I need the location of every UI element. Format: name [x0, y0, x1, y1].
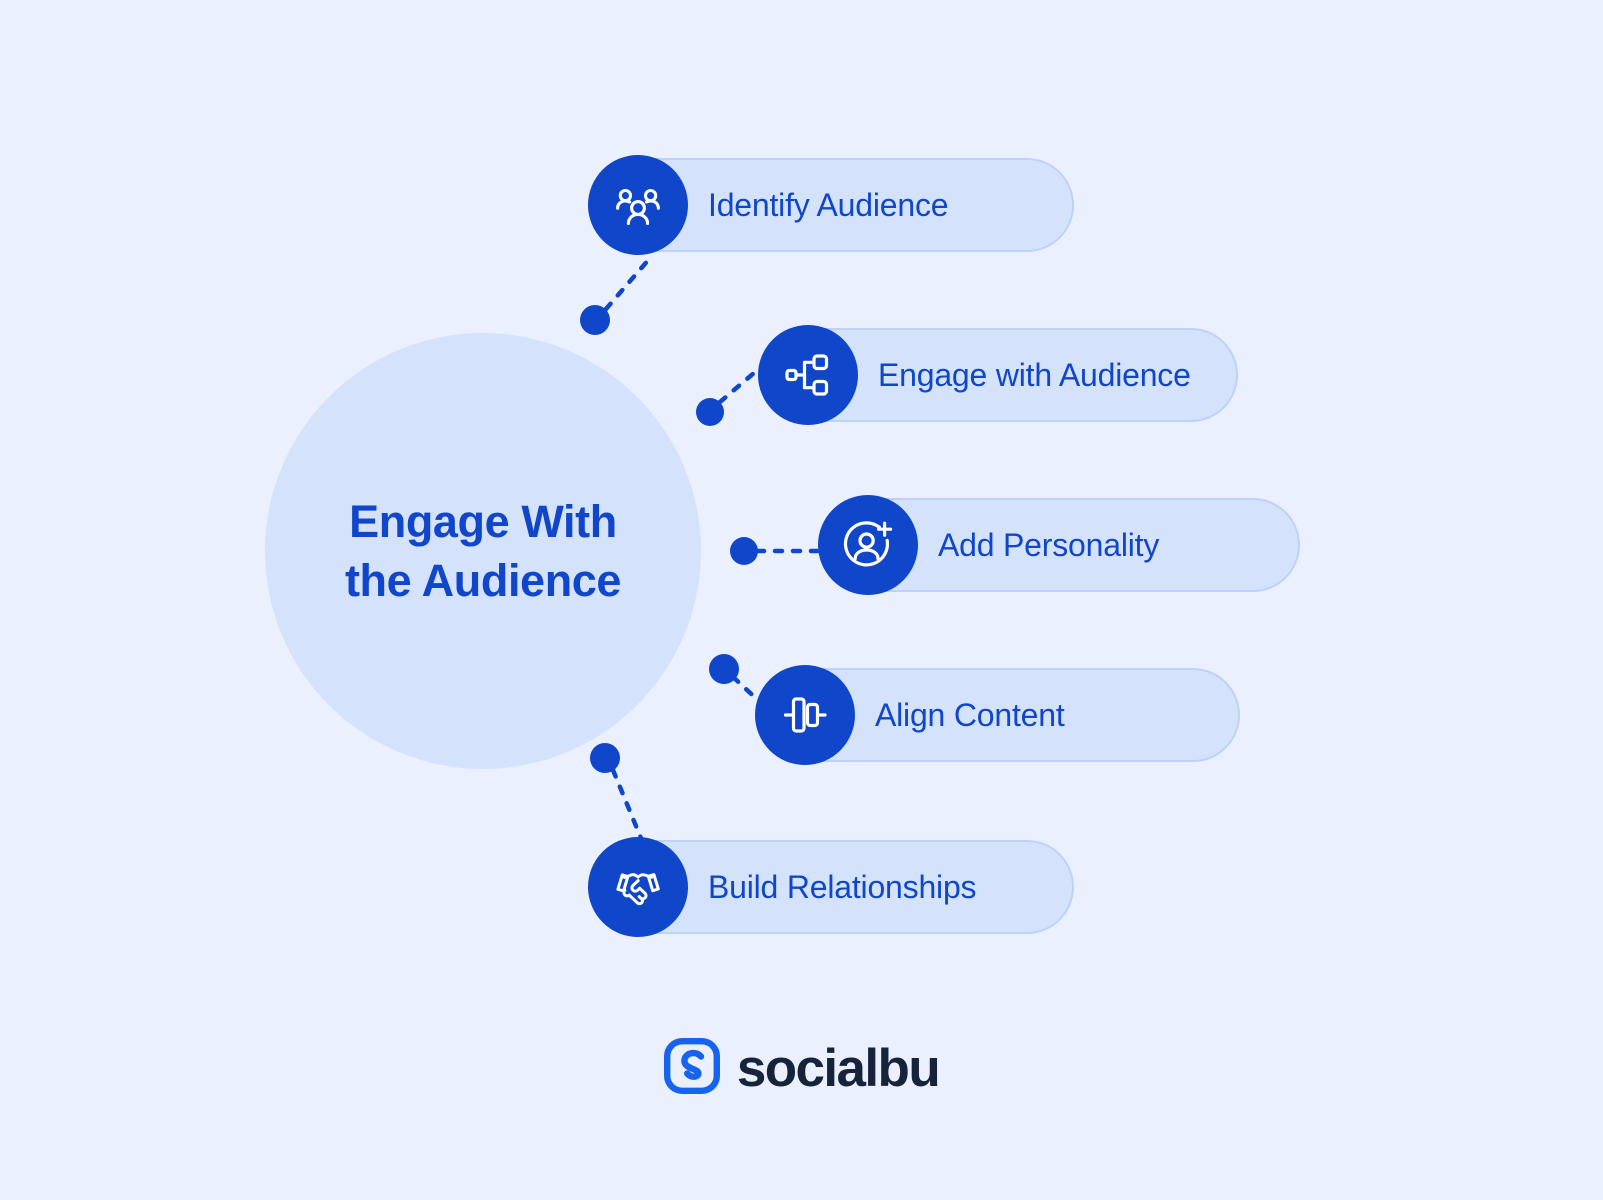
step-item-identify-audience[interactable]: Identify Audience: [588, 158, 1074, 252]
step-item-align-content[interactable]: Align Content: [755, 668, 1240, 762]
hierarchy-sitemap-icon: [758, 325, 858, 425]
step-label: Build Relationships: [708, 869, 976, 906]
center-hub: Engage With the Audience: [265, 333, 701, 769]
step-label: Identify Audience: [708, 187, 948, 224]
connector-dot-4: [590, 743, 620, 773]
center-title: Engage With the Audience: [345, 492, 621, 611]
connector-dot-3: [709, 654, 739, 684]
user-plus-circle-icon: [818, 495, 918, 595]
step-label: Engage with Audience: [878, 357, 1191, 394]
connector-line-0: [606, 258, 650, 309]
socialbu-s-mark-icon: [664, 1038, 720, 1099]
step-item-add-personality[interactable]: Add Personality: [818, 498, 1300, 592]
handshake-icon: [588, 837, 688, 937]
connector-dot-0: [580, 305, 610, 335]
align-center-vertical-icon: [755, 665, 855, 765]
step-item-build-relationships[interactable]: Build Relationships: [588, 840, 1074, 934]
users-group-icon: [588, 155, 688, 255]
brand-wordmark: socialbu: [737, 1042, 939, 1095]
step-label: Add Personality: [938, 527, 1159, 564]
step-label: Align Content: [875, 697, 1065, 734]
connector-dot-1: [696, 398, 724, 426]
brand-footer: socialbu: [0, 1038, 1603, 1099]
step-item-engage-with-audience[interactable]: Engage with Audience: [758, 328, 1238, 422]
connector-dot-2: [730, 537, 758, 565]
infographic-canvas: Engage With the Audience Identify Aud: [0, 0, 1603, 1200]
